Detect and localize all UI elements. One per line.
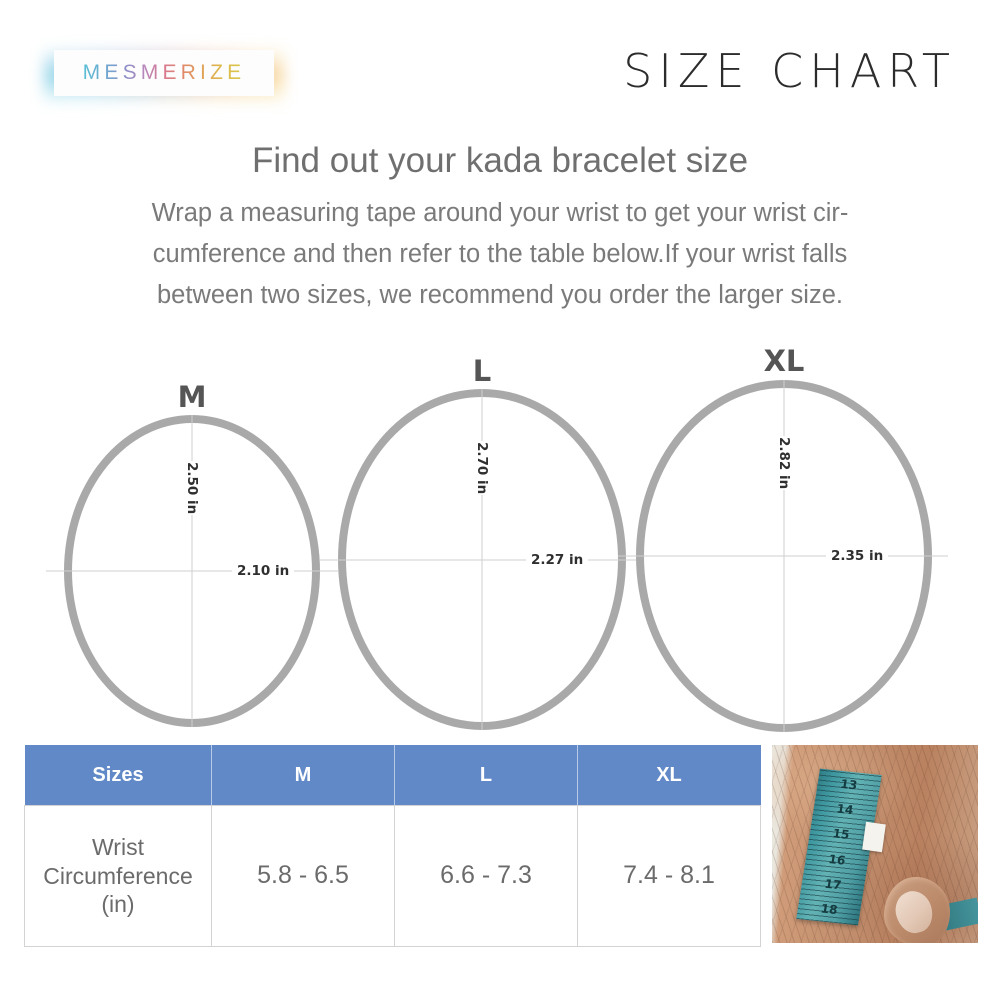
table-cell-wrist-m: 5.8 - 6.5 — [212, 806, 395, 947]
logo-text: MESMERIZE — [83, 61, 246, 85]
intro-body-line-1: Wrap a measuring tape around your wrist … — [48, 193, 952, 234]
table-cell-row-label: Wrist Circumference (in) — [25, 806, 212, 947]
intro-body-line-3: between two sizes, we recommend you orde… — [48, 275, 952, 316]
tape-number-18: 18 — [820, 902, 839, 918]
table-cell-wrist-l: 6.6 - 7.3 — [395, 806, 578, 947]
table-header-row: Sizes M L XL — [25, 745, 761, 806]
dimension-height-xl: 2.82 in — [774, 436, 794, 490]
oval-label-m: M — [178, 383, 207, 412]
table-header-l: L — [395, 745, 578, 806]
table-header-sizes: Sizes — [25, 745, 212, 806]
dimension-width-xl: 2.35 in — [826, 547, 888, 565]
size-chart-table: Sizes M L XL Wrist Circumference (in) 5.… — [24, 745, 761, 947]
intro-body: Wrap a measuring tape around your wrist … — [0, 193, 1000, 317]
crosshair-horizontal-xl — [618, 556, 948, 557]
intro-section: Find out your kada bracelet size Wrap a … — [0, 140, 1000, 317]
row-label-line-3: (in) — [101, 891, 134, 917]
intro-heading: Find out your kada bracelet size — [0, 140, 1000, 183]
crosshair-horizontal-l — [320, 559, 644, 560]
dimension-width-l: 2.27 in — [526, 551, 588, 569]
table-header-m: M — [212, 745, 395, 806]
dimension-width-m: 2.10 in — [232, 562, 294, 580]
logo-card: MESMERIZE — [54, 50, 274, 96]
table-header-xl: XL — [578, 745, 761, 806]
tape-number-14: 14 — [836, 802, 855, 818]
oval-label-xl: XL — [764, 347, 805, 376]
intro-body-line-2: cumference and then refer to the table b… — [48, 234, 952, 275]
wrist-measurement-photo: 13 14 15 16 17 18 — [772, 745, 978, 943]
oval-diagram-m: M 2.50 in 2.10 in — [64, 415, 320, 727]
tape-white-clip — [862, 822, 886, 853]
oval-diagram-xl: XL 2.82 in 2.35 in — [636, 380, 932, 732]
row-label-line-1: Wrist — [92, 834, 144, 860]
row-label-line-2: Circumference — [43, 863, 193, 889]
table-row: Wrist Circumference (in) 5.8 - 6.5 6.6 -… — [25, 806, 761, 947]
dimension-height-l: 2.70 in — [472, 441, 492, 495]
tape-number-17: 17 — [824, 877, 843, 893]
table-cell-wrist-xl: 7.4 - 8.1 — [578, 806, 761, 947]
tape-number-15: 15 — [832, 827, 851, 843]
brand-logo: MESMERIZE — [44, 42, 284, 104]
dimension-height-m: 2.50 in — [182, 461, 202, 515]
page-title: SIZE CHART — [623, 44, 956, 98]
tape-number-16: 16 — [828, 852, 847, 868]
oval-diagram-l: L 2.70 in 2.27 in — [338, 389, 626, 730]
oval-label-l: L — [473, 357, 491, 386]
tape-number-13: 13 — [840, 777, 859, 793]
oval-diagrams: M 2.50 in 2.10 in L 2.70 in 2.27 in XL 2… — [0, 355, 1000, 745]
photo-inner: 13 14 15 16 17 18 — [772, 745, 978, 943]
